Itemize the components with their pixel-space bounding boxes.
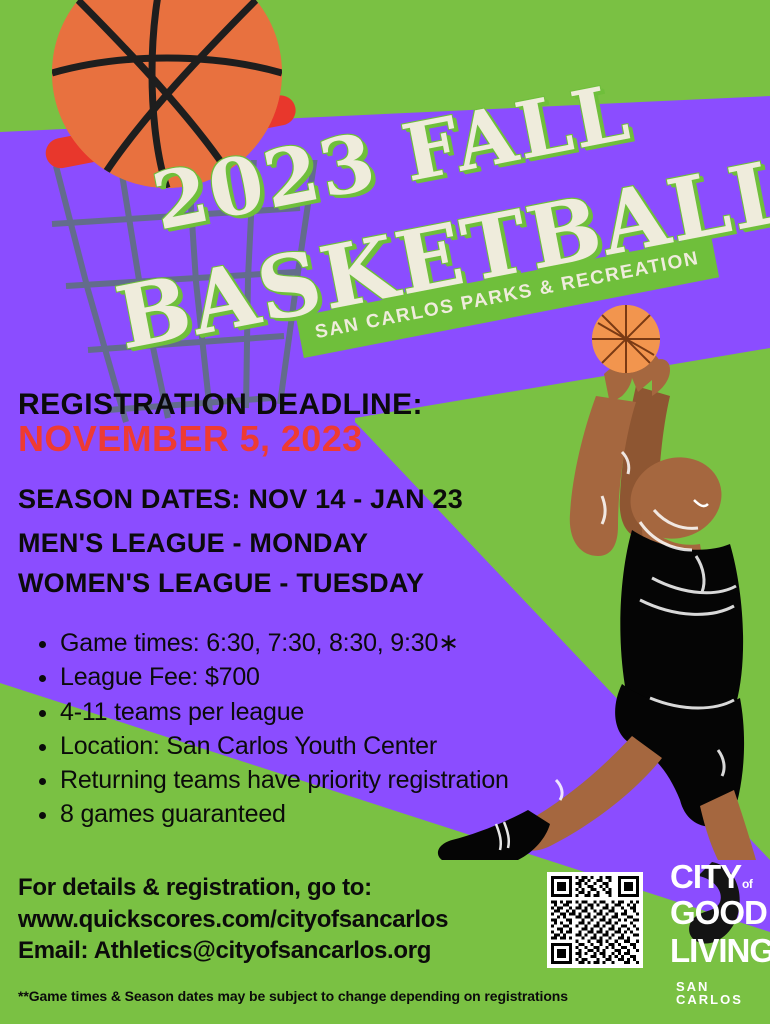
logo-text-city: CITY xyxy=(670,860,741,893)
registration-deadline-label: REGISTRATION DEADLINE: xyxy=(18,388,423,422)
contact-intro: For details & registration, go to: xyxy=(18,872,448,904)
basketball-flyer: 2023 FALL BASKETBALL SAN CARLOS PARKS & … xyxy=(0,0,770,1024)
list-item: 4-11 teams per league xyxy=(60,695,660,729)
registration-deadline-date: NOVEMBER 5, 2023 xyxy=(18,418,363,460)
list-item: Game times: 6:30, 7:30, 8:30, 9:30∗ xyxy=(60,626,660,660)
womens-league-day: WOMEN'S LEAGUE - TUESDAY xyxy=(18,568,424,599)
list-item: League Fee: $700 xyxy=(60,660,660,694)
logo-text-good: GOOD xyxy=(670,896,767,929)
list-item: Returning teams have priority registrati… xyxy=(60,763,660,797)
list-item: Location: San Carlos Youth Center xyxy=(60,729,660,763)
logo-text-city-name: SAN CARLOS xyxy=(676,980,764,1006)
list-item: 8 games guaranteed xyxy=(60,797,660,831)
city-logo: CITY of GOOD LIVING SAN CARLOS xyxy=(668,856,764,1016)
mens-league-day: MEN'S LEAGUE - MONDAY xyxy=(18,528,368,559)
registration-url[interactable]: www.quickscores.com/cityofsancarlos xyxy=(18,904,448,936)
disclaimer-text: **Game times & Season dates may be subje… xyxy=(18,988,568,1004)
season-dates: SEASON DATES: NOV 14 - JAN 23 xyxy=(18,484,463,515)
basketball-icon xyxy=(592,305,660,373)
qr-code-icon[interactable] xyxy=(547,872,643,968)
logo-text-of: of xyxy=(742,878,752,890)
logo-text-living: LIVING xyxy=(670,934,770,967)
league-details-list: Game times: 6:30, 7:30, 8:30, 9:30∗ Leag… xyxy=(34,626,660,832)
contact-block: For details & registration, go to: www.q… xyxy=(18,872,448,967)
title-block: 2023 FALL BASKETBALL SAN CARLOS PARKS & … xyxy=(0,60,770,310)
contact-email[interactable]: Email: Athletics@cityofsancarlos.org xyxy=(18,935,448,967)
